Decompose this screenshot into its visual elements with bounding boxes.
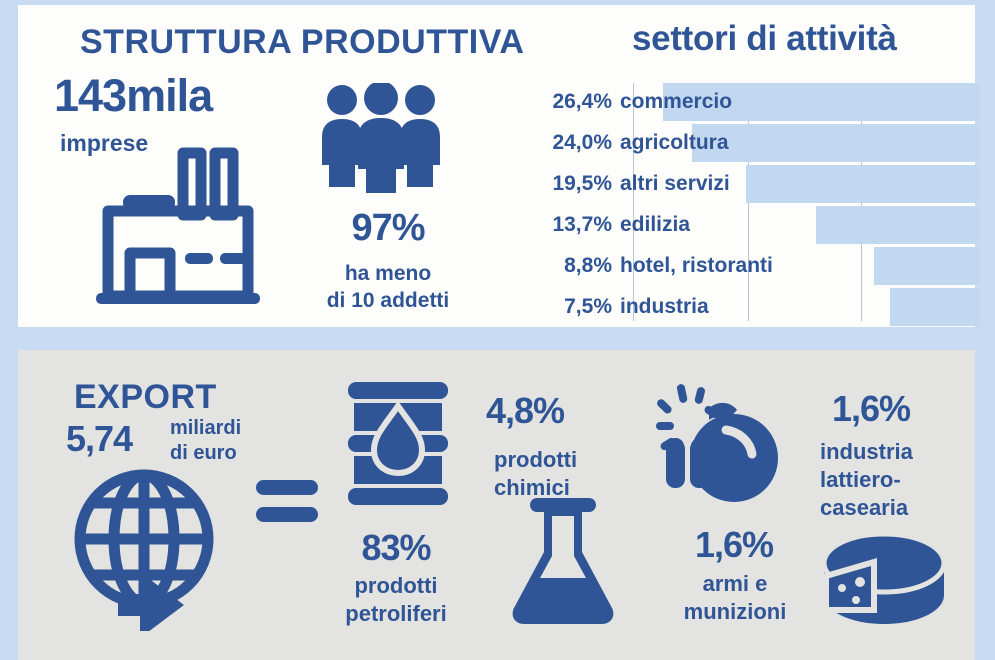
bar [874,247,980,285]
bar-category-label: industria [620,288,709,326]
chemicals-percent: 4,8% [486,390,626,432]
bar-value-label: 26,4% [528,83,612,121]
employees-label-line2: di 10 addetti [327,289,450,312]
bar-value-label: 13,7% [528,206,612,244]
export-unit-label: miliardi di euro [170,416,241,466]
people-group-icon [318,83,448,193]
bar [746,165,980,203]
dairy-percent: 1,6% [832,388,972,430]
employees-label: ha meno di 10 addetti [298,260,478,314]
weapons-label-line1: armi e [703,571,768,596]
employees-percent: 97% [318,207,458,250]
bar [692,124,980,162]
weapons-percent: 1,6% [654,524,814,566]
bar-category-label: edilizia [620,206,690,244]
chemicals-label-line1: prodotti [494,447,577,472]
dairy-label-line3: casearia [820,495,908,520]
bar-row: 13,7%edilizia [528,206,988,244]
chemicals-label-line2: chimici [494,475,570,500]
export-unit-line1: miliardi [170,417,241,439]
bar-category-label: hotel, ristoranti [620,247,773,285]
bar-category-label: agricoltura [620,124,729,162]
bar-value-label: 19,5% [528,165,612,203]
chart-title: settori di attività [632,19,897,59]
bar-row: 19,5%altri servizi [528,165,988,203]
bar-category-label: commercio [620,83,732,121]
export-unit-line2: di euro [170,442,237,464]
bar-row: 26,4%commercio [528,83,988,121]
dairy-label: industria lattiero- casearia [820,438,980,522]
oil-barrel-icon [344,382,452,508]
employees-label-line1: ha meno [345,262,431,285]
equals-sign [256,478,318,528]
dairy-label-line1: industria [820,439,913,464]
factory-icon [88,143,278,313]
bar-row: 24,0%agricoltura [528,124,988,162]
export-value: 5,74 [66,418,132,460]
petroleum-label-line1: prodotti [354,573,437,598]
cheese-icon [824,530,950,636]
chemicals-label: prodotti chimici [494,446,644,502]
bomb-icon [654,382,780,510]
dairy-label-line2: lattiero- [820,467,901,492]
flask-icon [508,498,618,626]
bar-row: 7,5%industria [528,288,988,326]
globe-arrow-icon [64,466,239,631]
weapons-label-line2: munizioni [684,599,787,624]
bar-row: 8,8%hotel, ristoranti [528,247,988,285]
export-title: EXPORT [74,378,217,417]
page-title: STRUTTURA PRODUTTIVA [80,23,524,62]
bar-value-label: 7,5% [528,288,612,326]
petroleum-percent: 83% [316,527,476,569]
bar-category-label: altri servizi [620,165,730,203]
sectors-bar-chart: 26,4%commercio24,0%agricoltura19,5%altri… [528,75,988,325]
petroleum-label: prodotti petroliferi [306,572,486,628]
bar [890,288,980,326]
struttura-produttiva-panel: STRUTTURA PRODUTTIVA settori di attività… [18,5,975,327]
bar-value-label: 24,0% [528,124,612,162]
firms-count-value: 143mila [54,70,212,122]
petroleum-label-line2: petroliferi [345,601,446,626]
bar [816,206,980,244]
weapons-label: armi e munizioni [650,570,820,626]
bar-value-label: 8,8% [528,247,612,285]
